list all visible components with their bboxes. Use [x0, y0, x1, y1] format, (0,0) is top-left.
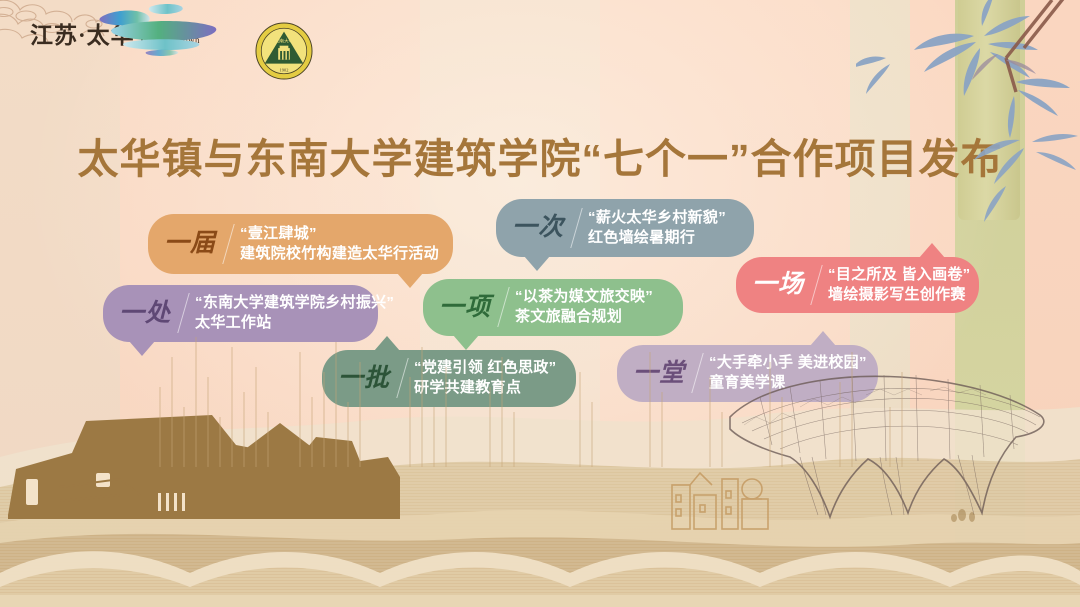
callout-yi-chang[interactable]: 一场 “目之所及 皆入画卷” 墙绘摄影写生创作赛	[736, 257, 979, 313]
southeast-university-seal: 東南大學 1902	[255, 22, 313, 80]
mountain-lake-mark-icon	[94, 2, 224, 58]
callout-tag: 一项	[439, 295, 503, 320]
callout-line1: “薪火太华乡村新貌”	[588, 208, 726, 228]
svg-text:東南大學: 東南大學	[274, 37, 293, 44]
vertical-bar-texture	[150, 317, 930, 467]
callout-yi-ci[interactable]: 一次 “薪火太华乡村新貌” 红色墙绘暑期行	[496, 199, 754, 257]
callout-line2: 建筑院校竹构建造太华行活动	[240, 244, 439, 264]
poster-canvas: 江苏·太华 Jiang Su Taihua Town	[0, 0, 1080, 607]
callout-text: “壹江肆城” 建筑院校竹构建造太华行活动	[240, 224, 439, 264]
callout-text: “目之所及 皆入画卷” 墙绘摄影写生创作赛	[828, 265, 970, 305]
callout-tag: 一届	[164, 231, 228, 256]
jiangsu-taihua-logo: 江苏·太华 Jiang Su Taihua Town	[30, 22, 200, 48]
callout-tail	[524, 256, 550, 271]
svg-text:1902: 1902	[280, 67, 289, 72]
bamboo-leaves-lower-icon	[960, 120, 1080, 230]
brand-lockup: 江苏·太华 Jiang Su Taihua Town	[30, 22, 200, 48]
callout-text: “薪火太华乡村新貌” 红色墙绘暑期行	[588, 208, 726, 248]
callout-tail	[919, 243, 945, 258]
callout-line1: “目之所及 皆入画卷”	[828, 265, 970, 285]
callout-tag: 一次	[512, 215, 576, 240]
callout-yi-jie[interactable]: 一届 “壹江肆城” 建筑院校竹构建造太华行活动	[148, 214, 453, 274]
callout-line1: “以茶为媒文旅交映”	[515, 287, 653, 307]
callout-line1: “东南大学建筑学院乡村振兴”	[195, 293, 394, 313]
callout-line1: “壹江肆城”	[240, 224, 439, 244]
callout-tag: 一场	[752, 272, 816, 297]
callout-tail	[397, 273, 423, 288]
callout-line2: 红色墙绘暑期行	[588, 228, 726, 248]
callout-line2: 墙绘摄影写生创作赛	[828, 285, 970, 305]
